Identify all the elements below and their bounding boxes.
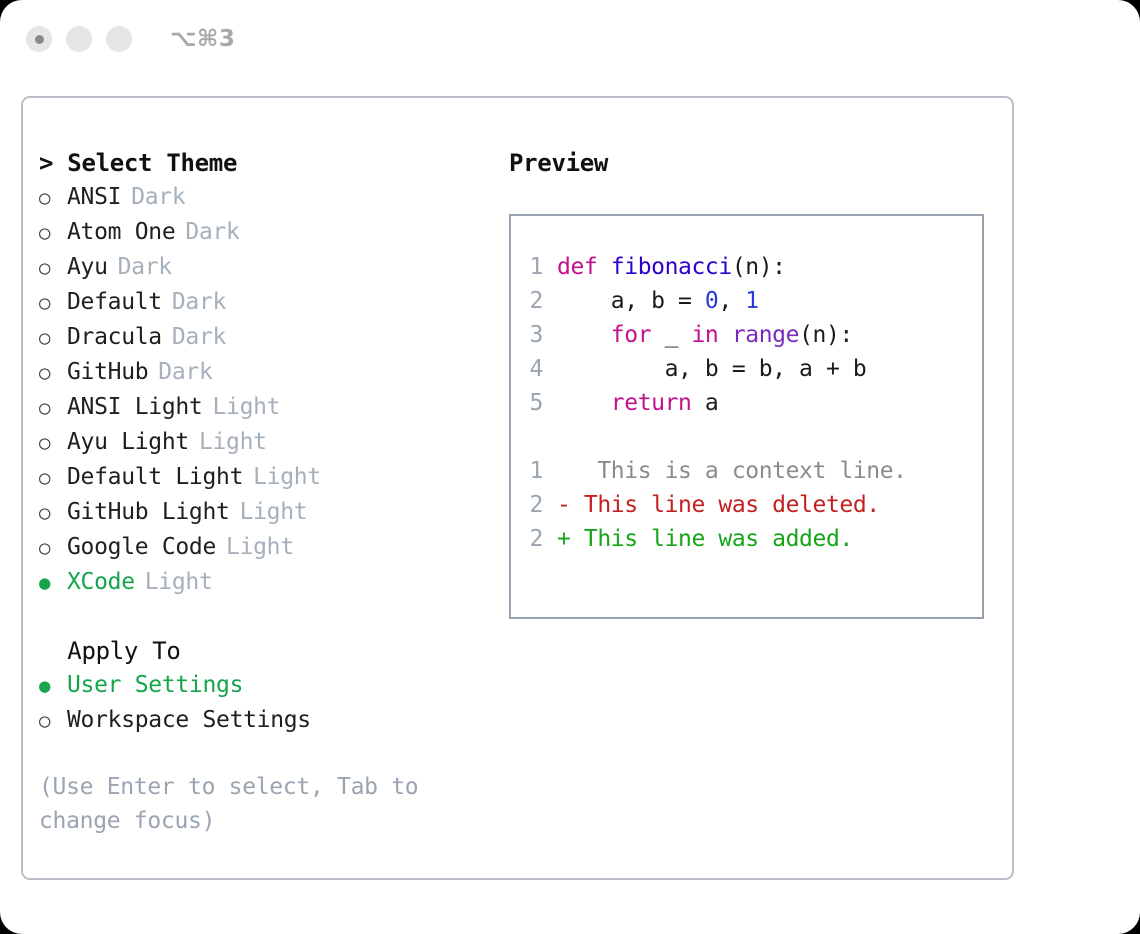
theme-selection-column: > Select Theme ○ANSIDark○Atom OneDark○Ay… [39,146,507,878]
apply-option-workspace-settings[interactable]: ○Workspace Settings [39,703,507,738]
diff-marker: + [557,522,570,556]
code-line-number: 1 [511,250,557,284]
theme-option-label: GitHub Light [67,495,230,529]
radio-unselected-icon: ○ [39,251,67,285]
code-token-plain: (n): [799,322,853,348]
radio-unselected-icon: ○ [39,426,67,460]
code-line-content: return a [557,386,718,420]
code-line-number: 3 [511,318,557,352]
theme-option-default-light[interactable]: ○Default LightLight [39,460,507,495]
diff-line-number: 2 [511,522,557,556]
theme-option-github-light[interactable]: ○GitHub LightLight [39,495,507,530]
theme-option-label: Google Code [67,530,216,564]
code-token-fn: fibonacci [611,254,732,280]
radio-unselected-icon: ○ [39,461,67,495]
theme-option-kind: Dark [185,215,239,249]
theme-option-kind: Dark [172,285,226,319]
code-token-kw: for [611,322,651,348]
diff-line: 2+ This line was added. [511,522,982,556]
preview-column: Preview 1def fibonacci(n):2 a, b = 0, 13… [507,146,1012,878]
radio-unselected-icon: ○ [39,286,67,320]
preview-header: Preview [509,146,1012,180]
theme-option-google-code[interactable]: ○Google CodeLight [39,530,507,565]
code-token-plain [557,322,611,348]
theme-option-kind: Light [240,495,308,529]
code-token-kw: in [691,322,718,348]
apply-option-label: User Settings [67,668,243,702]
theme-option-default[interactable]: ○DefaultDark [39,285,507,320]
theme-option-dracula[interactable]: ○DraculaDark [39,320,507,355]
code-line: 5 return a [511,386,982,420]
radio-unselected-icon: ○ [39,496,67,530]
app-window: ⌥⌘3 > Select Theme ○ANSIDark○Atom OneDar… [0,0,1140,934]
code-line: 3 for _ in range(n): [511,318,982,352]
theme-option-ansi-light[interactable]: ○ANSI LightLight [39,390,507,425]
radio-unselected-icon: ○ [39,391,67,425]
apply-to-option-list: ●User Settings○Workspace Settings [39,668,507,738]
keyboard-hint-text: (Use Enter to select, Tab to change focu… [39,770,439,838]
diff-line-content: This is a context line. [570,454,906,488]
radio-selected-icon: ● [39,566,67,600]
radio-unselected-icon: ○ [39,216,67,250]
code-line-content: a, b = b, a + b [557,352,866,386]
code-token-plain: a, b = [557,288,705,314]
theme-option-list: ○ANSIDark○Atom OneDark○AyuDark○DefaultDa… [39,180,507,600]
code-token-plain [718,322,731,348]
code-line-number: 5 [511,386,557,420]
theme-option-ansi[interactable]: ○ANSIDark [39,180,507,215]
window-dot-3[interactable] [106,26,132,52]
diff-line: 2- This line was deleted. [511,488,982,522]
theme-option-label: Default Light [67,460,243,494]
window-dot-1[interactable] [26,26,52,52]
code-token-plain: _ [651,322,691,348]
code-token-plain: a [691,390,718,416]
code-line-content: def fibonacci(n): [557,250,786,284]
apply-option-user-settings[interactable]: ●User Settings [39,668,507,703]
theme-option-label: ANSI [67,180,121,214]
theme-option-kind: Dark [158,355,212,389]
section-spacer [39,600,507,634]
apply-to-header: Apply To [39,634,507,668]
theme-option-label: ANSI Light [67,390,202,424]
code-token-num: 0 [705,288,718,314]
theme-option-kind: Dark [118,250,172,284]
theme-picker-panel: > Select Theme ○ANSIDark○Atom OneDark○Ay… [21,96,1014,880]
theme-option-ayu[interactable]: ○AyuDark [39,250,507,285]
code-token-plain: a, b = b, a + b [557,356,866,382]
preview-box: 1def fibonacci(n):2 a, b = 0, 13 for _ i… [509,214,984,619]
diff-line: 1 This is a context line. [511,454,982,488]
code-token-kw: return [611,390,692,416]
theme-option-label: XCode [67,565,135,599]
radio-selected-icon: ● [39,669,67,703]
diff-marker: - [557,488,570,522]
code-token-num: 1 [745,288,758,314]
diff-line-content: This line was deleted. [570,488,879,522]
window-dot-2[interactable] [66,26,92,52]
theme-option-kind: Dark [172,320,226,354]
diff-line-number: 2 [511,488,557,522]
window-controls [26,26,132,52]
theme-option-label: Ayu [67,250,108,284]
diff-marker [557,454,570,488]
radio-unselected-icon: ○ [39,181,67,215]
code-sample: 1def fibonacci(n):2 a, b = 0, 13 for _ i… [511,250,982,420]
theme-option-kind: Light [212,390,280,424]
code-line-content: for _ in range(n): [557,318,853,352]
radio-unselected-icon: ○ [39,531,67,565]
theme-option-label: Ayu Light [67,425,189,459]
theme-option-kind: Light [199,425,267,459]
theme-option-label: GitHub [67,355,148,389]
code-line-number: 4 [511,352,557,386]
theme-option-label: Atom One [67,215,175,249]
theme-option-label: Dracula [67,320,162,354]
titlebar: ⌥⌘3 [0,0,1140,78]
code-token-call: range [732,322,799,348]
code-token-plain [557,390,611,416]
hint-spacer [39,738,507,770]
radio-unselected-icon: ○ [39,704,67,738]
diff-line-number: 1 [511,454,557,488]
window-dot-active-indicator [35,35,44,44]
theme-option-github[interactable]: ○GitHubDark [39,355,507,390]
theme-option-xcode[interactable]: ●XCodeLight [39,565,507,600]
diff-line-content: This line was added. [570,522,852,556]
code-line: 1def fibonacci(n): [511,250,982,284]
theme-option-atom-one[interactable]: ○Atom OneDark [39,215,507,250]
code-diff-gap [511,420,982,454]
code-line: 2 a, b = 0, 1 [511,284,982,318]
apply-option-label: Workspace Settings [67,703,311,737]
diff-sample: 1 This is a context line.2- This line wa… [511,454,982,556]
theme-option-kind: Dark [131,180,185,214]
code-token-plain: (n): [732,254,786,280]
theme-option-kind: Light [253,460,321,494]
code-token-kw: def [557,254,611,280]
code-line-content: a, b = 0, 1 [557,284,759,318]
radio-unselected-icon: ○ [39,321,67,355]
radio-unselected-icon: ○ [39,356,67,390]
select-theme-header: > Select Theme [39,146,507,180]
code-line: 4 a, b = b, a + b [511,352,982,386]
theme-option-kind: Light [226,530,294,564]
theme-option-kind: Light [145,565,213,599]
code-line-number: 2 [511,284,557,318]
theme-option-ayu-light[interactable]: ○Ayu LightLight [39,425,507,460]
code-token-plain: , [718,288,745,314]
theme-option-label: Default [67,285,162,319]
keyboard-shortcut-label: ⌥⌘3 [170,26,235,52]
